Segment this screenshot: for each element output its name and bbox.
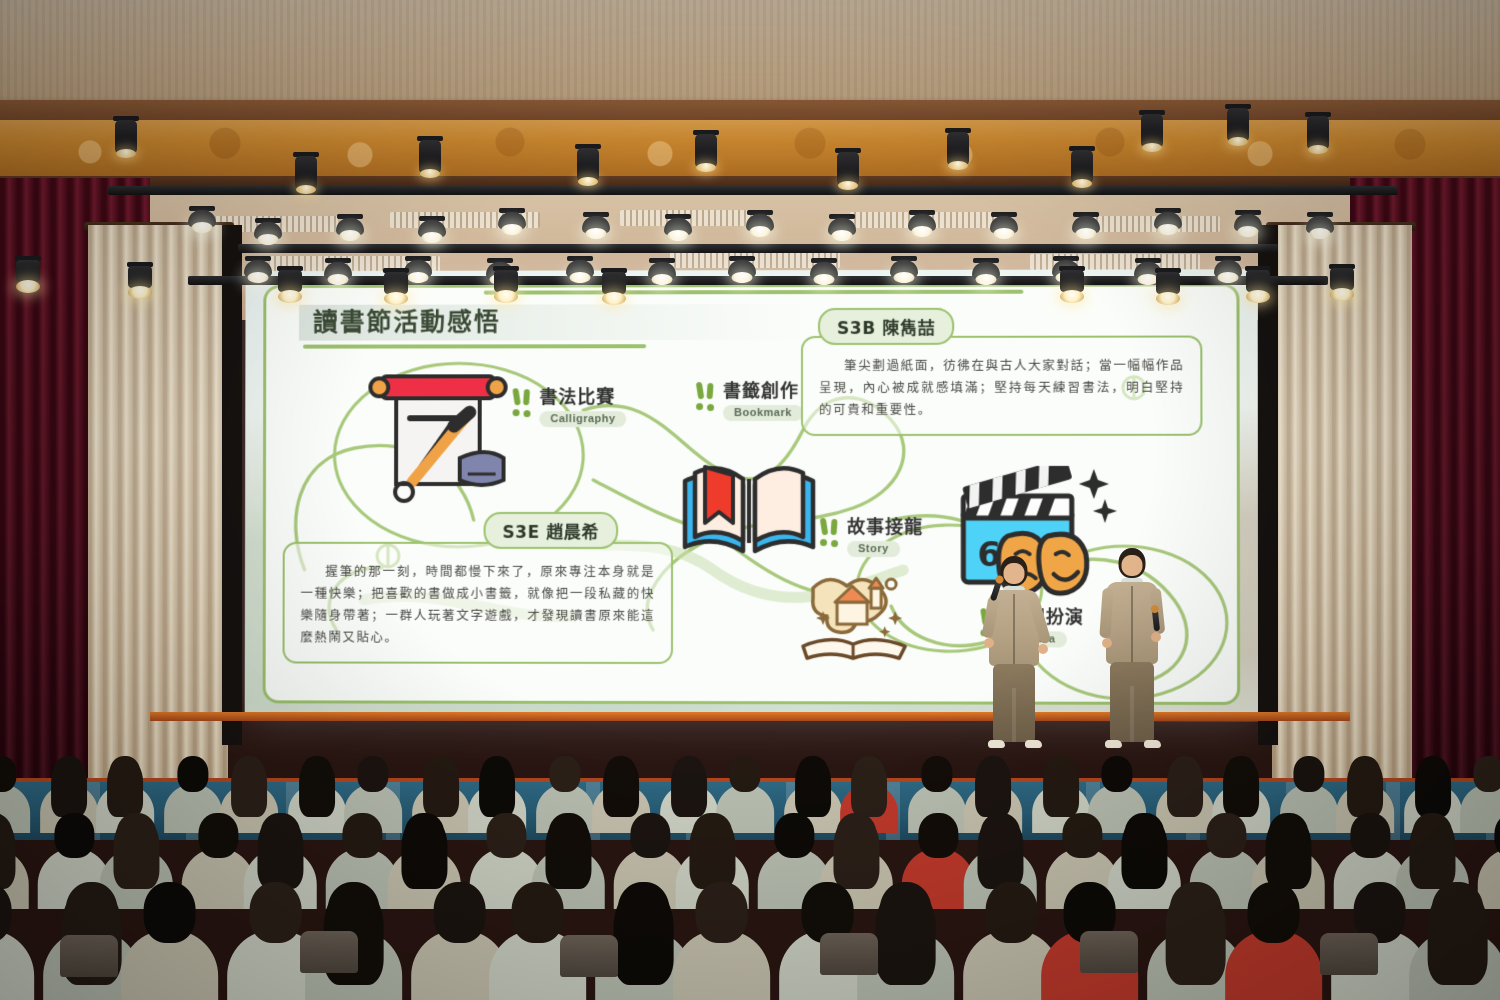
audience-head [405,813,444,858]
activity-title-en: Story [847,541,900,557]
audience [0,735,1500,1000]
audience-head [53,756,84,792]
audience-head [1225,756,1256,792]
audience-head [693,813,732,858]
title-rule-top [484,290,1024,295]
audience-head [631,813,670,858]
audience-head [425,756,456,792]
exclamation-mark-icon [819,518,841,552]
audience-head [55,813,94,858]
audience-head [1293,756,1324,792]
presenter-hand-right [1151,632,1161,642]
audience-head [921,756,952,792]
presenter-face [1122,555,1143,576]
audience-head [1169,882,1222,943]
presenter-zipper [1013,594,1015,664]
audience-head [1417,756,1448,792]
audience-head [549,756,580,792]
activity-title-en: Bookmark [723,405,803,421]
storybook-castle-icon [795,568,915,669]
activity-title-cn: 書籤創作 [723,382,803,402]
presenter-left [982,556,1046,756]
audience-head [1207,813,1246,858]
name-tag-s3e: S3E 趙晨希 [484,512,618,549]
audience-head [481,756,512,792]
audience-head [919,813,958,858]
audience-head [729,756,760,792]
audience-head [487,813,526,858]
activity-label-calligraphy: 書法比賽 Calligraphy [512,388,627,427]
audience-head [1063,813,1102,858]
presenter-hand-left [984,638,994,648]
activity-title-cn: 書法比賽 [539,388,626,408]
quote-text-s3e: 握筆的那一刻，時間都慢下來了，原來專注本身就是一種快樂；把喜歡的書做成小書籤，就… [300,561,655,649]
audience-head [357,756,388,792]
audience-head [1125,813,1164,858]
audience-head [1473,756,1500,792]
quote-text-s3b: 筆尖劃過紙面，彷彿在與古人大家對話；當一幅幅作品呈現，內心被成就感填滿；堅持每天… [819,355,1184,421]
exclamation-mark-icon [695,382,717,416]
audience-head [177,756,208,792]
audience-head [1413,813,1452,858]
audience-head [1269,813,1308,858]
audience-head [199,813,238,858]
masking-leg-right [1258,225,1278,745]
quote-card-s3e: 握筆的那一刻，時間都慢下來了，原來專注本身就是一種快樂；把喜歡的書做成小書籤，就… [283,542,674,664]
activity-title-cn: 故事接龍 [847,518,923,538]
audience-head [1247,882,1300,943]
activity-label-story: 故事接龍 Story [819,518,923,557]
auditorium-scene: 讀書節活動感悟 書法比賽 Calli [0,0,1500,1000]
audience-head [981,813,1020,858]
audience-head [65,882,118,943]
audience-head [695,882,748,943]
audience-head [1349,756,1380,792]
audience-head [605,756,636,792]
title-rule-bottom [303,344,646,348]
audience-head [985,882,1038,943]
auditorium-seat [1080,931,1138,973]
exclamation-mark-icon [512,388,534,422]
audience-head [233,756,264,792]
audience-head [837,813,876,858]
auditorium-seat [60,935,118,977]
auditorium-seat [560,935,618,977]
lighting-truss-row-1b [238,244,1278,253]
audience-head [977,756,1008,792]
audience-head [301,756,332,792]
audience-head [1431,882,1484,943]
page-title: 讀書節活動感悟 [313,303,501,339]
audience-head [261,813,300,858]
audience-head [1045,756,1076,792]
audience-head [853,756,884,792]
audience-head [143,882,196,943]
name-tag-s3b: S3B 陳雋喆 [818,308,954,345]
open-book-bookmark-icon [675,455,823,572]
gold-ornate-proscenium-band [0,120,1500,178]
auditorium-seat [300,931,358,973]
audience-head [617,882,670,943]
audience-head [879,882,932,943]
audience-head [797,756,828,792]
audience-head [775,813,814,858]
audience-head [673,756,704,792]
audience-head [1101,756,1132,792]
quote-card-s3b: 筆尖劃過紙面，彷彿在與古人大家對話；當一幅幅作品呈現，內心被成就感填滿；堅持每天… [801,336,1202,436]
activity-label-bookmark: 書籤創作 Bookmark [695,382,803,421]
audience-head [117,813,156,858]
presenter-hand-right [1038,644,1048,654]
presenter-hand-left [1102,638,1112,648]
audience-head [249,882,302,943]
auditorium-seat [820,933,878,975]
audience-head [109,756,140,792]
audience-head [549,813,588,858]
presenter-right [1100,548,1164,756]
auditorium-seat [1320,933,1378,975]
calligraphy-scroll-icon [352,362,521,517]
audience-head [1169,756,1200,792]
audience-shoulders [0,930,34,1000]
audience-head [433,882,486,943]
audience-head [511,882,564,943]
presenter-face [1004,563,1025,584]
audience-head [343,813,382,858]
audience-head [1351,813,1390,858]
activity-title-en: Calligraphy [539,411,626,427]
presenter-zipper [1131,586,1133,662]
masking-leg-left [222,225,242,745]
